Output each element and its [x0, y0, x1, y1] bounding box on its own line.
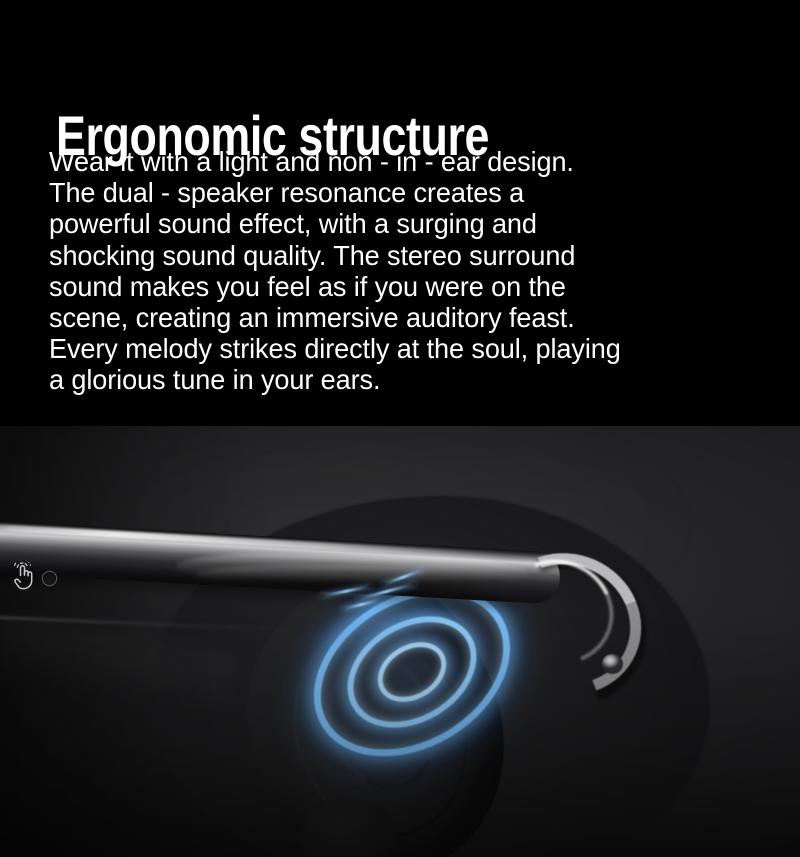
touch-gesture-icon[interactable] [12, 562, 38, 592]
description-line: sound makes you feel as if you were on t… [49, 271, 739, 302]
indicator-dot-icon [43, 572, 56, 585]
product-feature-page: Ergonomic structure Wear it with a light… [0, 0, 800, 857]
description-line: scene, creating an immersive auditory fe… [49, 302, 739, 333]
photo-bottom-vignette [0, 607, 800, 857]
description-line: a glorious tune in your ears. [49, 364, 739, 395]
description-line: shocking sound quality. The stereo surro… [49, 240, 739, 271]
description-text: Wear it with a light and non - in - ear … [49, 146, 739, 396]
description-panel: Ergonomic structure Wear it with a light… [0, 0, 800, 426]
description-line: powerful sound effect, with a surging an… [49, 208, 739, 239]
description-line: Every melody strikes directly at the sou… [49, 333, 739, 364]
description-line: Wear it with a light and non - in - ear … [49, 146, 739, 177]
description-line: The dual - speaker resonance creates a [49, 177, 739, 208]
product-photo [0, 426, 800, 857]
